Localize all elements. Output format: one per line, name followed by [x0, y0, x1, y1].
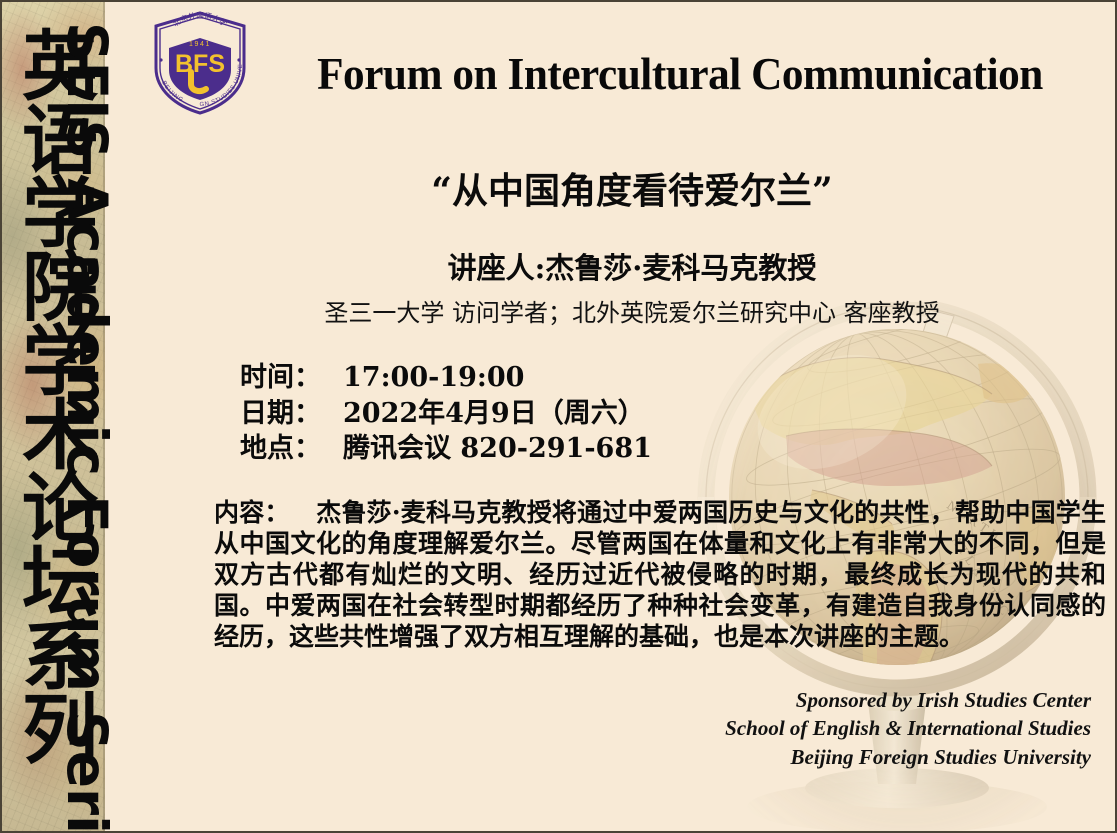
detail-label-date: 日期： — [240, 396, 343, 432]
sponsor-line-3: Beijing Foreign Studies University — [671, 743, 1091, 771]
speaker-affiliation-line: 圣三一大学 访问学者；北外英院爱尔兰研究中心 客座教授 — [182, 299, 1082, 328]
detail-value-location: 腾讯会议 820-291-681 — [343, 431, 652, 467]
poster-canvas: NORTH ATLANTIC 英语学院学术论坛系列 SEIS Academic … — [0, 0, 1117, 833]
sponsor-block: Sponsored by Irish Studies Center School… — [671, 686, 1091, 771]
abstract-label: 内容： — [214, 498, 290, 527]
logo-year-text: 1941 — [189, 41, 211, 48]
lecture-title-cn: “从中国角度看待爱尔兰” — [182, 170, 1082, 213]
detail-label-time: 时间： — [240, 360, 343, 396]
page-title: Forum on Intercultural Communication — [285, 50, 1075, 98]
detail-row-location: 地点： 腾讯会议 820-291-681 — [240, 431, 652, 467]
logo-monogram-text: BFS — [175, 50, 225, 78]
detail-row-date: 日期： 2022年4月9日（周六） — [240, 396, 652, 432]
speaker-name-line: 讲座人:杰鲁莎·麦科马克教授 — [182, 251, 1082, 286]
sponsor-line-2: School of English & International Studie… — [671, 714, 1091, 742]
sidebar-vertical-title-en: SEIS Academic Forum Series — [42, 22, 114, 722]
event-details-table: 时间： 17:00-19:00 日期： 2022年4月9日（周六） 地点： 腾讯… — [240, 360, 652, 467]
detail-value-date: 2022年4月9日（周六） — [343, 396, 652, 432]
detail-value-time: 17:00-19:00 — [343, 360, 652, 396]
abstract-text: 杰鲁莎·麦科马克教授将通过中爱两国历史与文化的共性，帮助中国学生从中国文化的角度… — [214, 498, 1106, 651]
detail-row-time: 时间： 17:00-19:00 — [240, 360, 652, 396]
abstract-spacer — [290, 498, 317, 527]
sponsor-line-1: Sponsored by Irish Studies Center — [671, 686, 1091, 714]
abstract-paragraph: 内容： 杰鲁莎·麦科马克教授将通过中爱两国历史与文化的共性，帮助中国学生从中国文… — [214, 497, 1106, 652]
bfsu-shield-logo: 1941 BFS 北京外国语大学 BEIJING FOREIGN STUDIES… — [148, 10, 252, 116]
detail-label-location: 地点： — [240, 431, 343, 467]
